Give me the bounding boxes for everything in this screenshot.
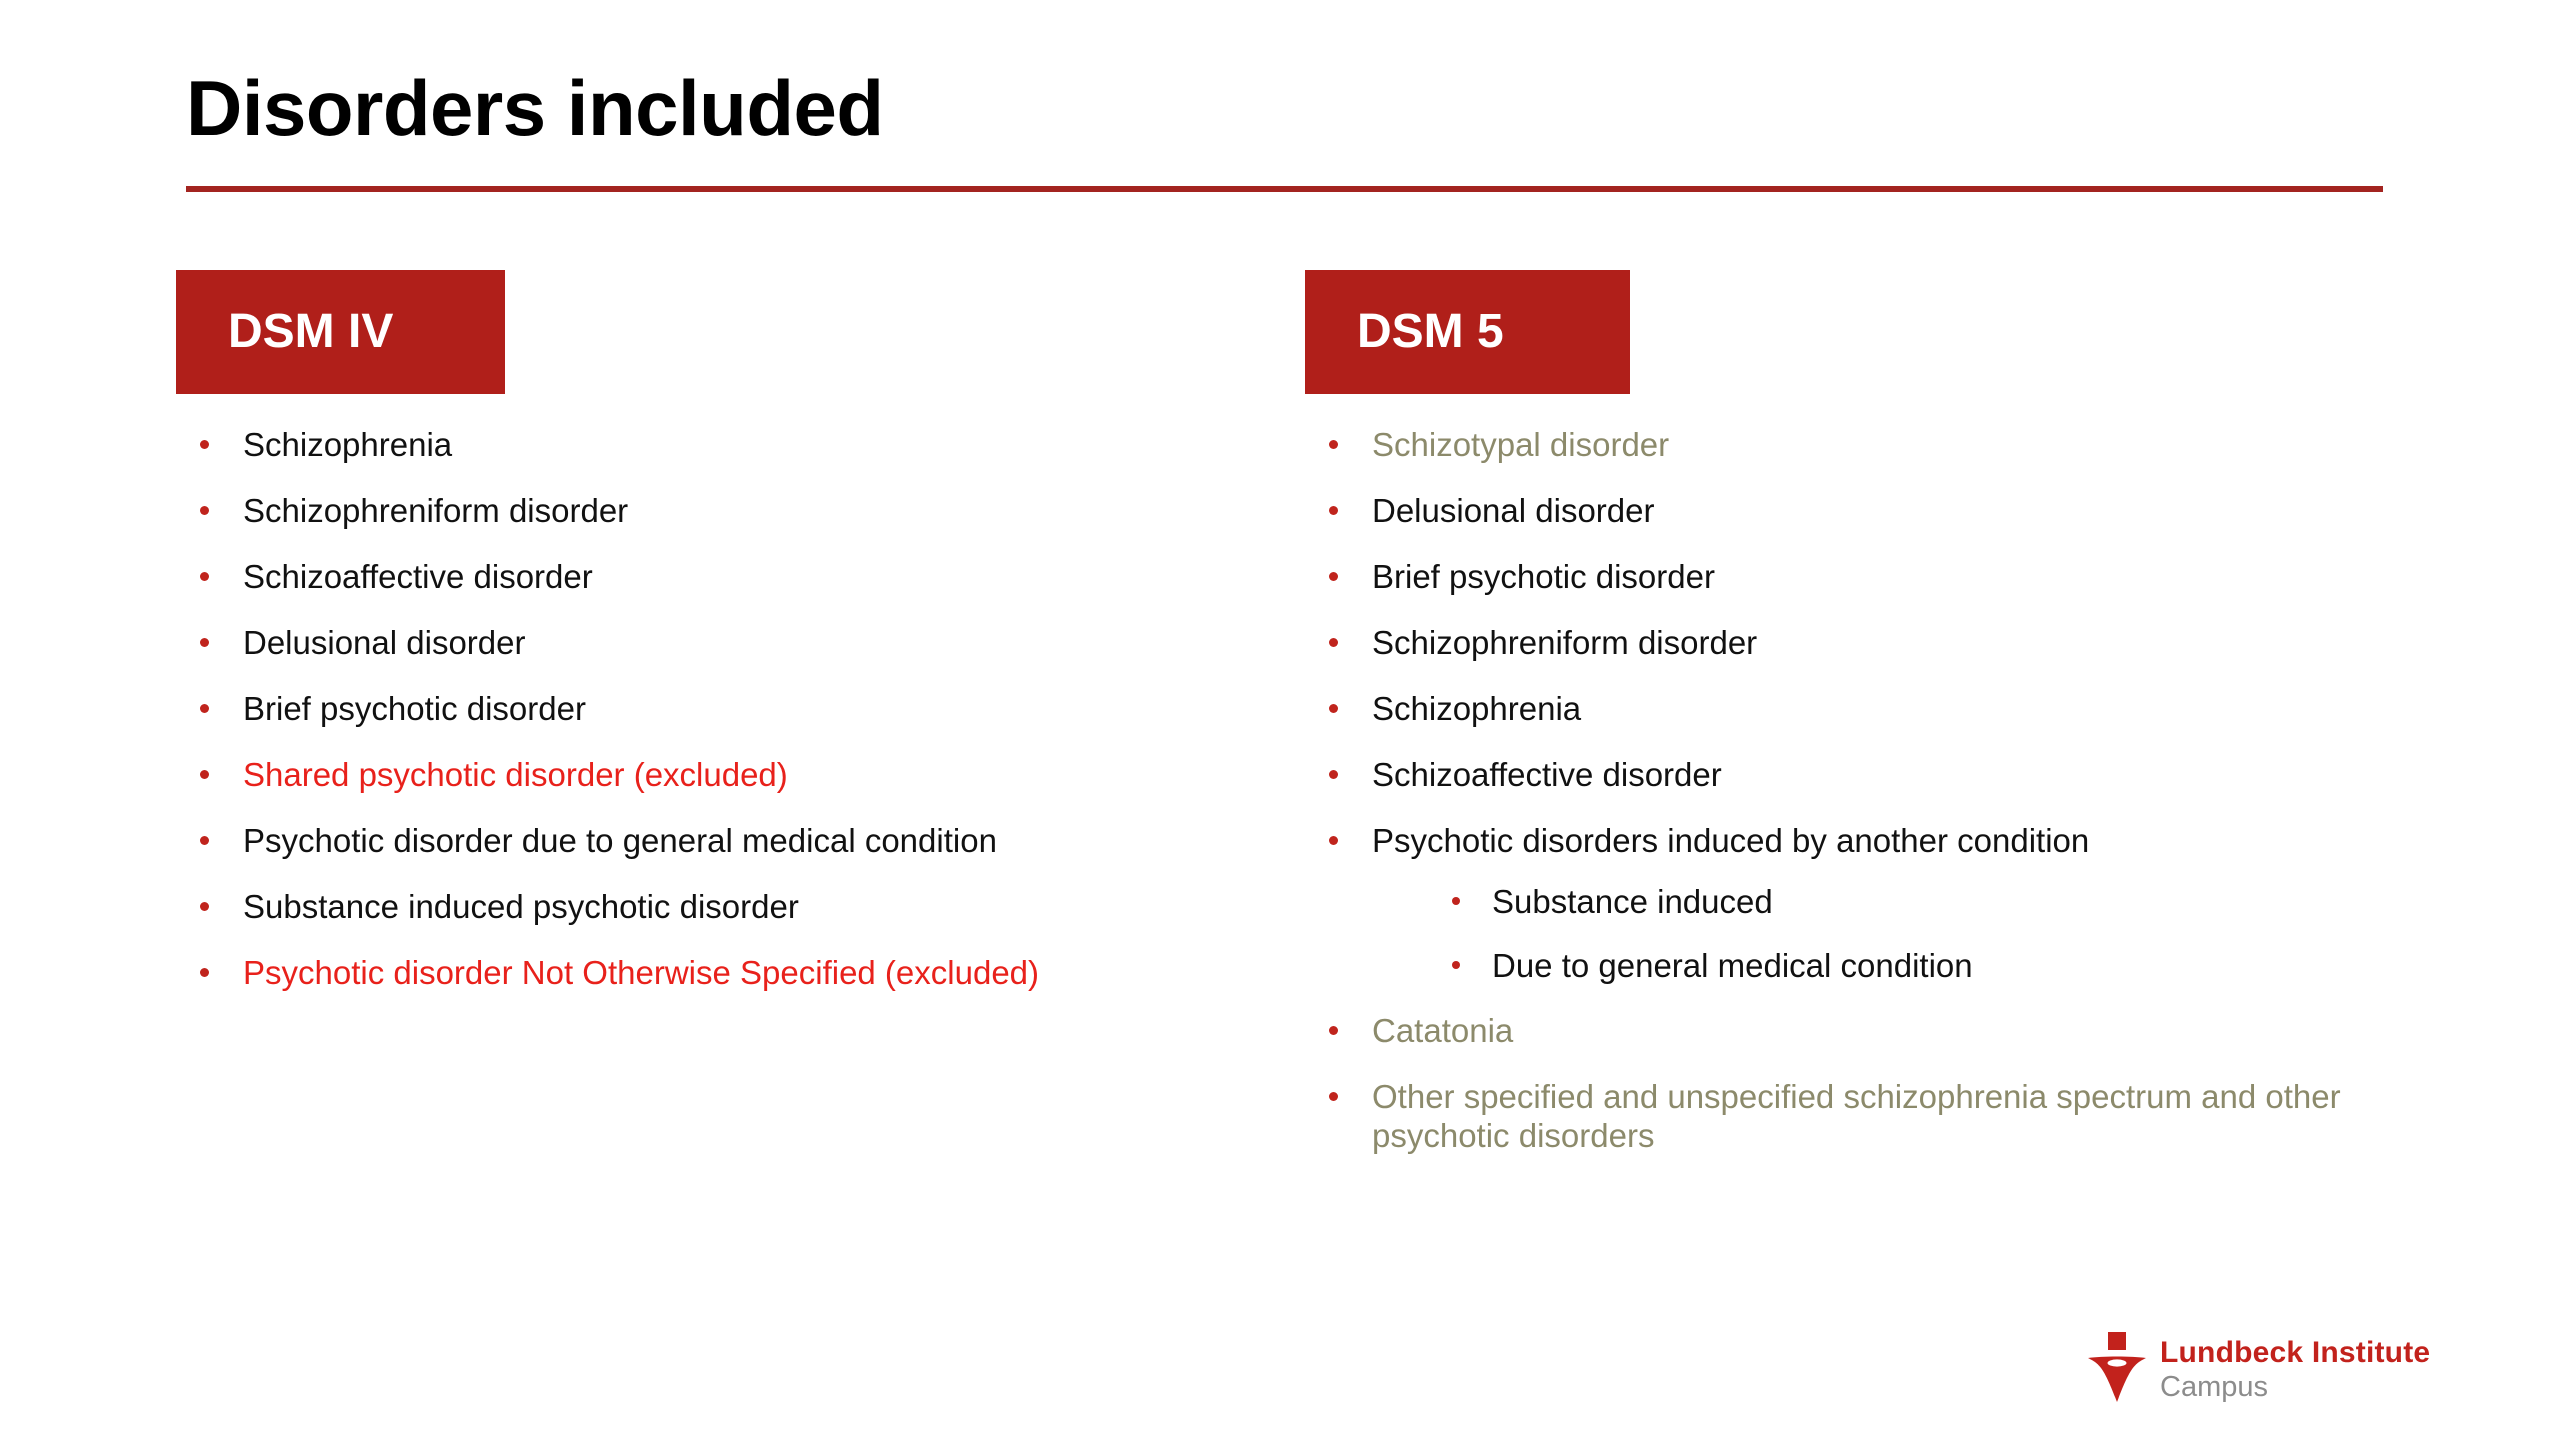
list-item: Schizoaffective disorder bbox=[176, 558, 1276, 597]
slide-canvas: Disorders included DSM IV Schizophrenia … bbox=[0, 0, 2560, 1440]
list-item-label: Psychotic disorder Not Otherwise Specifi… bbox=[243, 954, 1039, 991]
list-item: Delusional disorder bbox=[176, 624, 1276, 663]
list-item-label: Schizoaffective disorder bbox=[1372, 756, 1722, 793]
logo-text-block: Lundbeck Institute Campus bbox=[2160, 1338, 2430, 1402]
list-item-label: Schizophrenia bbox=[1372, 690, 1581, 727]
bullet-dot-icon bbox=[1329, 440, 1338, 449]
list-item-new: Other specified and unspecified schizoph… bbox=[1305, 1078, 2445, 1156]
list-item: Schizophrenia bbox=[1305, 690, 2445, 729]
list-item-label: Schizophrenia bbox=[243, 426, 452, 463]
bullet-dot-icon bbox=[200, 572, 209, 581]
sub-disorder-list: Substance induced Due to general medical… bbox=[1428, 883, 2445, 986]
bullet-dot-icon bbox=[200, 836, 209, 845]
list-item-excluded: Shared psychotic disorder (excluded) bbox=[176, 756, 1276, 795]
disorder-list-dsm-iv: Schizophrenia Schizophreniform disorder … bbox=[176, 426, 1276, 992]
bullet-dot-icon bbox=[1329, 704, 1338, 713]
bullet-dot-icon bbox=[1452, 961, 1460, 969]
list-item-label: Psychotic disorder due to general medica… bbox=[243, 822, 997, 859]
bullet-dot-icon bbox=[200, 968, 209, 977]
disorder-list-dsm-5: Schizotypal disorder Delusional disorder… bbox=[1305, 426, 2445, 1156]
sub-list-item-label: Substance induced bbox=[1492, 883, 1773, 920]
list-item: Schizophreniform disorder bbox=[176, 492, 1276, 531]
bullet-dot-icon bbox=[1452, 897, 1460, 905]
list-item: Psychotic disorders induced by another c… bbox=[1305, 822, 2445, 986]
list-item-label: Schizophreniform disorder bbox=[243, 492, 628, 529]
list-item: Brief psychotic disorder bbox=[176, 690, 1276, 729]
bullet-dot-icon bbox=[200, 770, 209, 779]
list-item-label: Psychotic disorders induced by another c… bbox=[1372, 822, 2089, 859]
sub-list-item: Substance induced bbox=[1428, 883, 2445, 922]
list-item-label: Brief psychotic disorder bbox=[1372, 558, 1715, 595]
list-item-label: Other specified and unspecified schizoph… bbox=[1372, 1078, 2341, 1154]
title-underline-rule bbox=[186, 186, 2383, 192]
bullet-dot-icon bbox=[200, 902, 209, 911]
list-item-label: Brief psychotic disorder bbox=[243, 690, 586, 727]
bullet-dot-icon bbox=[200, 440, 209, 449]
list-item-label: Schizophreniform disorder bbox=[1372, 624, 1757, 661]
list-item-label: Delusional disorder bbox=[1372, 492, 1654, 529]
column-header-dsm-5: DSM 5 bbox=[1305, 270, 1630, 394]
bullet-dot-icon bbox=[200, 638, 209, 647]
list-item-label: Shared psychotic disorder (excluded) bbox=[243, 756, 788, 793]
list-item-label: Catatonia bbox=[1372, 1012, 1513, 1049]
list-item: Schizoaffective disorder bbox=[1305, 756, 2445, 795]
bullet-dot-icon bbox=[1329, 638, 1338, 647]
bullet-dot-icon bbox=[1329, 1026, 1338, 1035]
list-item-excluded: Psychotic disorder Not Otherwise Specifi… bbox=[176, 954, 1276, 993]
bullet-dot-icon bbox=[1329, 506, 1338, 515]
page-title: Disorders included bbox=[186, 68, 884, 150]
column-header-dsm-iv: DSM IV bbox=[176, 270, 505, 394]
bullet-dot-icon bbox=[1329, 836, 1338, 845]
list-item-label: Substance induced psychotic disorder bbox=[243, 888, 799, 925]
list-item: Schizophrenia bbox=[176, 426, 1276, 465]
list-item-new: Catatonia bbox=[1305, 1012, 2445, 1051]
list-item: Substance induced psychotic disorder bbox=[176, 888, 1276, 927]
sub-list-item: Due to general medical condition bbox=[1428, 947, 2445, 986]
logo-title: Lundbeck Institute bbox=[2160, 1338, 2430, 1368]
bullet-dot-icon bbox=[200, 506, 209, 515]
bullet-dot-icon bbox=[1329, 770, 1338, 779]
list-item-label: Schizotypal disorder bbox=[1372, 426, 1669, 463]
sub-list-wrapper: Substance induced Due to general medical… bbox=[1428, 883, 2445, 986]
list-item: Delusional disorder bbox=[1305, 492, 2445, 531]
bullet-dot-icon bbox=[1329, 1092, 1338, 1101]
column-dsm-5: DSM 5 Schizotypal disorder Delusional di… bbox=[1305, 270, 2445, 1183]
logo-subtitle: Campus bbox=[2160, 1373, 2430, 1402]
list-item: Psychotic disorder due to general medica… bbox=[176, 822, 1276, 861]
column-dsm-iv: DSM IV Schizophrenia Schizophreniform di… bbox=[176, 270, 1276, 1019]
list-item-label: Schizoaffective disorder bbox=[243, 558, 593, 595]
list-item: Brief psychotic disorder bbox=[1305, 558, 2445, 597]
sub-list-item-label: Due to general medical condition bbox=[1492, 947, 1973, 984]
list-item-label: Delusional disorder bbox=[243, 624, 525, 661]
bullet-dot-icon bbox=[200, 704, 209, 713]
list-item-new: Schizotypal disorder bbox=[1305, 426, 2445, 465]
lundbeck-institute-logo: Lundbeck Institute Campus bbox=[2088, 1332, 2430, 1408]
list-item: Schizophreniform disorder bbox=[1305, 624, 2445, 663]
lundbeck-logo-mark-icon bbox=[2088, 1332, 2146, 1408]
bullet-dot-icon bbox=[1329, 572, 1338, 581]
